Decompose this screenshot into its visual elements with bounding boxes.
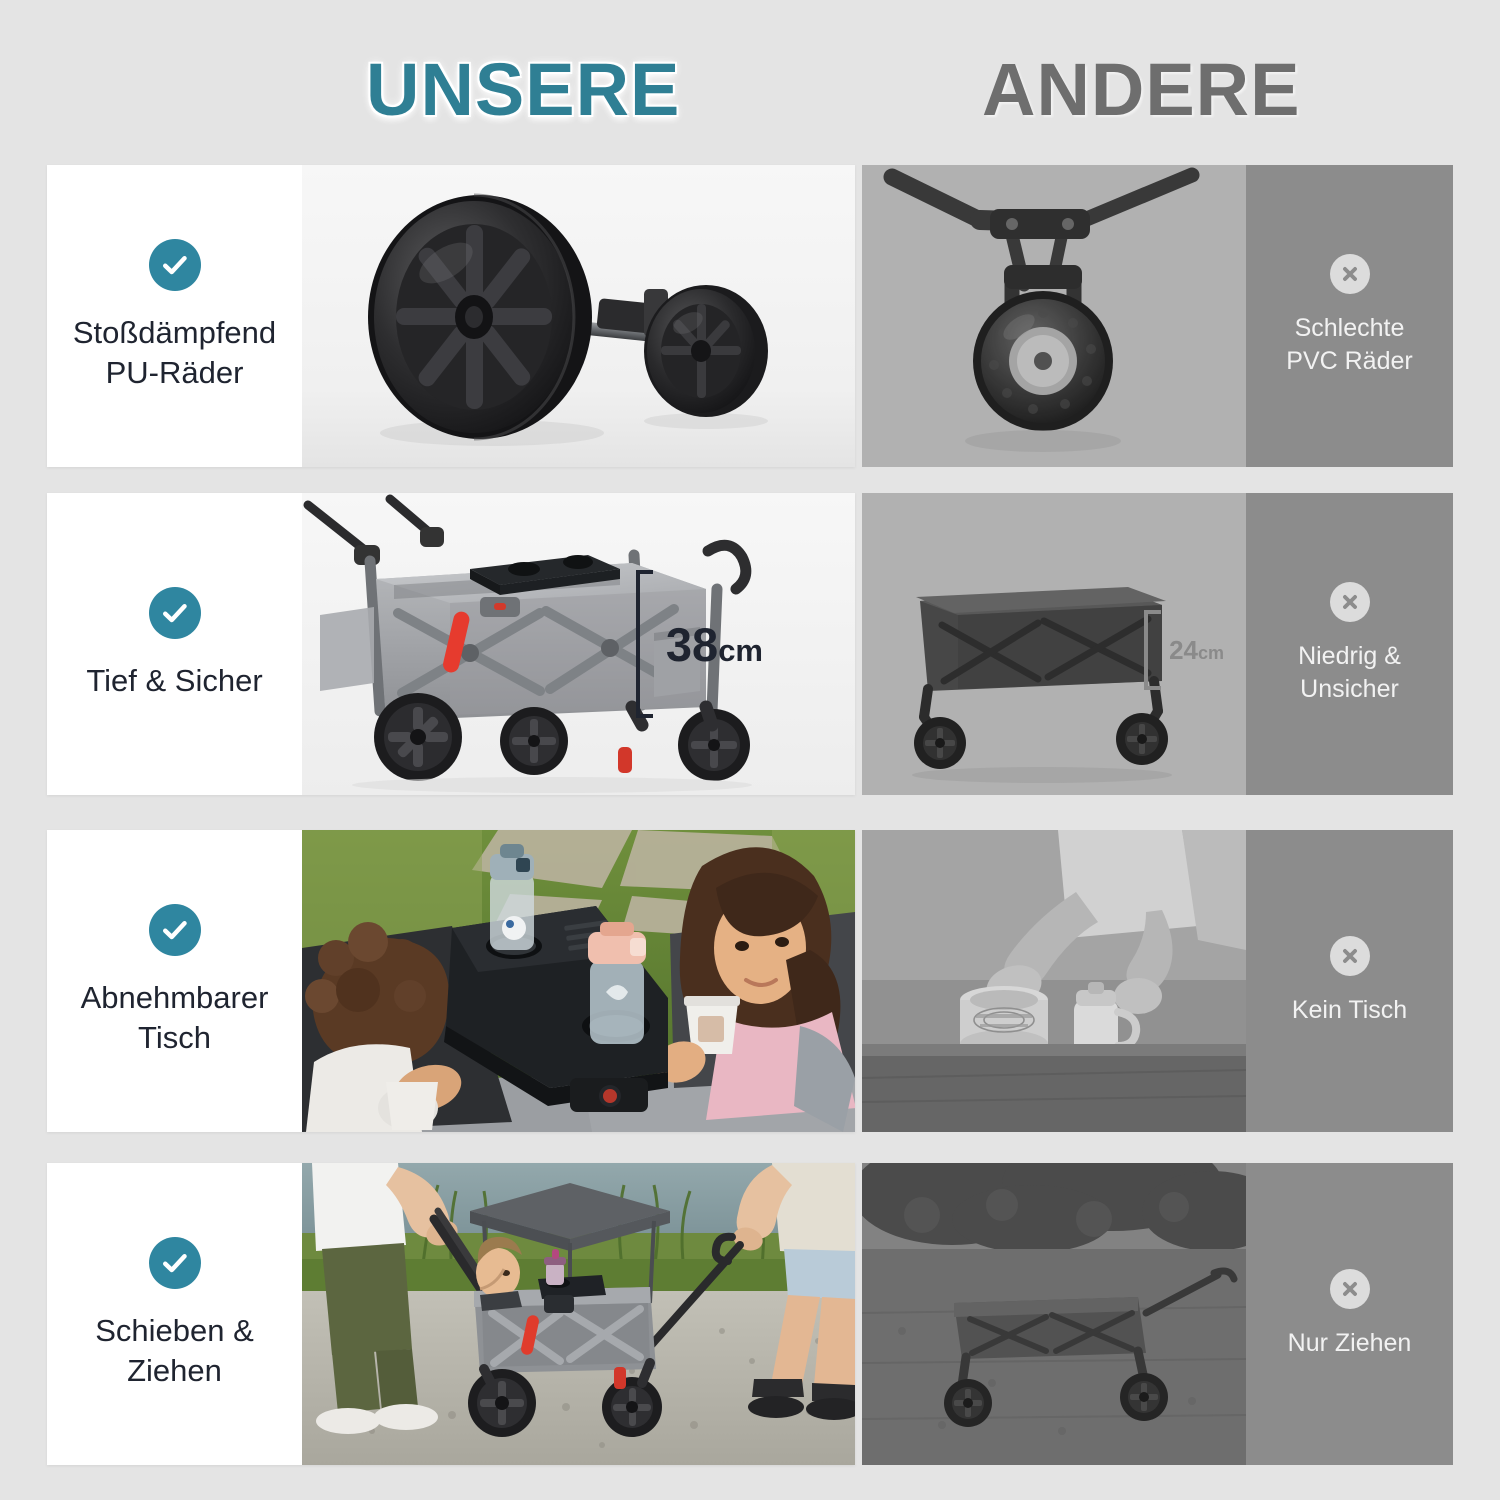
check-circle-icon <box>149 904 201 956</box>
ours-height-unit: cm <box>718 633 763 668</box>
others-media-push-pull <box>862 1163 1246 1465</box>
ours-media-depth: 38cm <box>302 493 855 795</box>
ours-feature-text: Stoßdämpfend PU-Räder <box>73 313 276 394</box>
comparison-row-wheels: Stoßdämpfend PU-Räder <box>0 165 1500 467</box>
others-height-unit: cm <box>1198 643 1224 663</box>
check-circle-icon <box>149 587 201 639</box>
measure-bracket-icon <box>636 570 653 718</box>
ours-height-measurement: 38cm <box>636 570 763 718</box>
comparison-header: UNSERE ANDERE <box>0 44 1500 148</box>
others-feature-text: Kein Tisch <box>1292 994 1407 1027</box>
others-card-wheels: Schlechte PVC Räder <box>862 165 1453 467</box>
others-card-table: Kein Tisch <box>862 830 1453 1132</box>
ours-label-wheels: Stoßdämpfend PU-Räder <box>47 165 302 467</box>
ours-media-wheels <box>302 165 855 467</box>
family-pushing-pulling-wagon-photo <box>302 1163 855 1465</box>
ours-label-push-pull: Schieben & Ziehen <box>47 1163 302 1465</box>
ours-feature-text: Tief & Sicher <box>86 661 262 701</box>
ours-label-table: Abnehmbarer Tisch <box>47 830 302 1132</box>
x-circle-icon <box>1330 936 1370 976</box>
person-holding-cup-no-table-photo <box>862 830 1246 1132</box>
x-circle-icon <box>1330 1269 1370 1309</box>
comparison-row-depth: Tief & Sicher <box>0 493 1500 795</box>
x-circle-icon <box>1330 254 1370 294</box>
ours-height-value: 38cm <box>666 621 763 668</box>
others-height-measurement: 24cm <box>1144 610 1224 690</box>
measure-bracket-icon <box>1144 610 1161 690</box>
check-circle-icon <box>149 1237 201 1289</box>
ours-label-depth: Tief & Sicher <box>47 493 302 795</box>
ours-card-push-pull: Schieben & Ziehen <box>47 1163 855 1465</box>
others-card-depth: 24cm Niedrig & Unsicher <box>862 493 1453 795</box>
empty-wagon-pull-only-photo <box>862 1163 1246 1465</box>
grey-folding-wagon-illustration <box>302 493 855 795</box>
ours-column-title: UNSERE <box>366 53 680 127</box>
ours-feature-text: Schieben & Ziehen <box>95 1311 254 1392</box>
large-pu-wheels-illustration <box>302 165 855 467</box>
comparison-infographic: UNSERE ANDERE Stoßdämpfend PU-Räder <box>0 0 1500 1500</box>
check-circle-icon <box>149 239 201 291</box>
others-height-value: 24cm <box>1169 637 1224 663</box>
others-feature-text: Schlechte PVC Räder <box>1286 312 1412 378</box>
ours-card-depth: Tief & Sicher <box>47 493 855 795</box>
ours-media-table <box>302 830 855 1132</box>
others-media-wheels <box>862 165 1246 467</box>
ours-media-push-pull <box>302 1163 855 1465</box>
comparison-row-table: Abnehmbarer Tisch <box>0 830 1500 1132</box>
ours-feature-text: Abnehmbarer Tisch <box>81 978 269 1059</box>
others-card-push-pull: Nur Ziehen <box>862 1163 1453 1465</box>
others-label-table: Kein Tisch <box>1246 830 1453 1132</box>
children-using-removable-table-photo <box>302 830 855 1132</box>
others-column-title: ANDERE <box>982 53 1300 127</box>
others-label-wheels: Schlechte PVC Räder <box>1246 165 1453 467</box>
others-label-depth: Niedrig & Unsicher <box>1246 493 1453 795</box>
ours-card-table: Abnehmbarer Tisch <box>47 830 855 1132</box>
others-media-table <box>862 830 1246 1132</box>
x-circle-icon <box>1330 582 1370 622</box>
others-feature-text: Niedrig & Unsicher <box>1298 640 1401 706</box>
others-feature-text: Nur Ziehen <box>1288 1327 1412 1360</box>
ours-card-wheels: Stoßdämpfend PU-Räder <box>47 165 855 467</box>
others-label-push-pull: Nur Ziehen <box>1246 1163 1453 1465</box>
others-media-depth: 24cm <box>862 493 1246 795</box>
small-pvc-caster-wheel-illustration <box>862 165 1246 467</box>
comparison-row-push-pull: Schieben & Ziehen <box>0 1163 1500 1465</box>
